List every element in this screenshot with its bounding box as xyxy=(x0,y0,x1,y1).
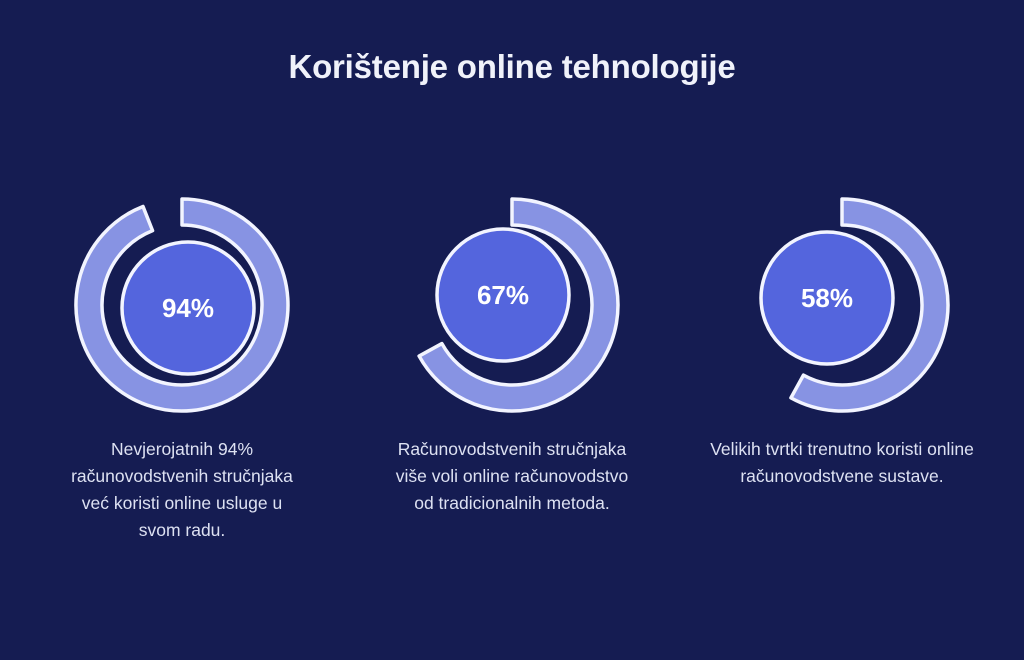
stat-card: 58% Velikih tvrtki trenutno koristi onli… xyxy=(677,190,1007,490)
donut-value-label: 58% xyxy=(801,283,853,313)
donut-chart-67: 67% xyxy=(397,190,627,420)
donut-chart-58: 58% xyxy=(727,190,957,420)
stat-card-list: 94% Nevjerojatnih 94% računovodstvenih s… xyxy=(0,190,1024,544)
stat-caption: Velikih tvrtki trenutno koristi online r… xyxy=(707,436,977,490)
infographic-page: Korištenje online tehnologije 94% Nevjer… xyxy=(0,0,1024,660)
donut-svg: 94% xyxy=(67,190,297,420)
stat-card: 67% Računovodstvenih stručnjaka više vol… xyxy=(347,190,677,517)
donut-chart-94: 94% xyxy=(67,190,297,420)
stat-caption: Nevjerojatnih 94% računovodstvenih struč… xyxy=(70,436,295,544)
donut-value-label: 67% xyxy=(477,280,529,310)
donut-svg: 58% xyxy=(727,190,957,420)
stat-caption: Računovodstvenih stručnjaka više voli on… xyxy=(390,436,635,517)
stat-card: 94% Nevjerojatnih 94% računovodstvenih s… xyxy=(17,190,347,544)
donut-svg: 67% xyxy=(397,190,627,420)
page-title: Korištenje online tehnologije xyxy=(0,48,1024,86)
donut-value-label: 94% xyxy=(162,293,214,323)
